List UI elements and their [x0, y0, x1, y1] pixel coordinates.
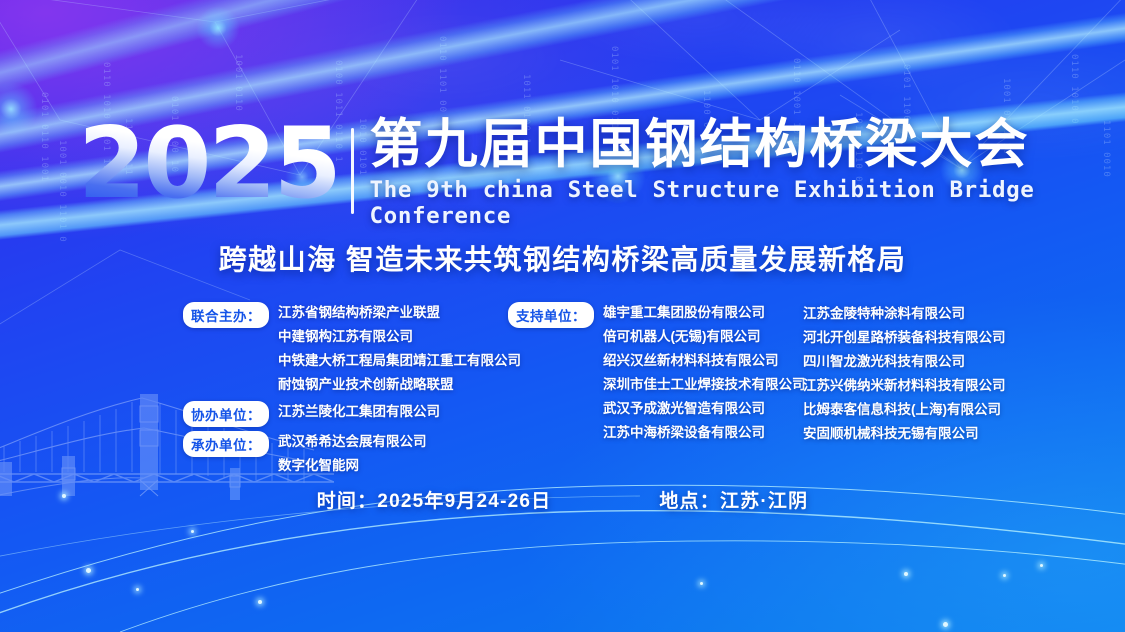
sponsor-item: 江苏兰陵化工集团有限公司	[278, 400, 440, 424]
slogan: 跨越山海 智造未来共筑钢结构桥梁高质量发展新格局	[0, 238, 1125, 278]
sponsor-group: 支持单位： 雄宇重工集团股份有限公司 倍可机器人(无锡)有限公司 绍兴汉丝新材料…	[508, 301, 803, 445]
event-details: 时间：2025年9月24-26日 地点：江苏·江阴	[0, 486, 1125, 513]
sponsor-item: 雄宇重工集团股份有限公司	[603, 301, 806, 325]
sparkle	[904, 572, 908, 576]
sparkle	[258, 600, 262, 604]
headline: 2025 第九届中国钢结构桥梁大会 The 9th china Steel St…	[78, 118, 1125, 229]
sponsor-label-pill: 联合主办：	[183, 302, 269, 328]
sponsor-item: 安固顺机械科技无锡有限公司	[803, 422, 1038, 446]
sparkle	[86, 568, 91, 573]
sponsor-group: 联合主办： 江苏省钢结构桥梁产业联盟 中建钢构江苏有限公司 中铁建大桥工程局集团…	[183, 301, 508, 397]
sponsor-item: 数字化智能网	[278, 454, 427, 478]
sparkle	[700, 582, 703, 585]
sponsor-item: 江苏中海桥梁设备有限公司	[603, 421, 806, 445]
sponsor-block: 联合主办： 江苏省钢结构桥梁产业联盟 中建钢构江苏有限公司 中铁建大桥工程局集团…	[183, 301, 1063, 481]
year-2025: 2025	[78, 118, 339, 211]
event-date: 时间：2025年9月24-26日	[317, 486, 552, 513]
sponsor-label-pill: 承办单位：	[183, 431, 269, 457]
sponsor-item: 江苏兴佛纳米新材料科技有限公司	[803, 374, 1038, 398]
sponsor-group: 协办单位： 江苏兰陵化工集团有限公司	[183, 400, 508, 427]
sponsor-item: 河北开创星路桥装备科技有限公司	[803, 326, 1038, 350]
binary-column: 0110 1101 00	[436, 36, 447, 113]
sponsor-label-pill: 协办单位：	[183, 401, 269, 427]
glow-dot	[0, 82, 38, 136]
sponsor-item: 武汉予成激光智造有限公司	[603, 397, 806, 421]
event-venue: 地点：江苏·江阴	[659, 486, 808, 513]
title-english: The 9th china Steel Structure Exhibition…	[370, 177, 1125, 229]
sponsor-items: 江苏省钢结构桥梁产业联盟 中建钢构江苏有限公司 中铁建大桥工程局集团靖江重工有限…	[278, 301, 521, 397]
title-chinese: 第九届中国钢结构桥梁大会	[370, 118, 1125, 172]
sponsor-items: 武汉希希达会展有限公司 数字化智能网	[278, 430, 427, 478]
sponsor-item: 比姆泰客信息科技(上海)有限公司	[803, 398, 1038, 422]
binary-column: 0101 0110 1001	[38, 92, 49, 182]
sparkle	[1003, 574, 1006, 577]
sponsor-item: 绍兴汉丝新材料科技有限公司	[603, 349, 806, 373]
sponsor-group: 承办单位： 武汉希希达会展有限公司 数字化智能网	[183, 430, 508, 478]
sponsor-item: 深圳市佳士工业焊接技术有限公司	[603, 373, 806, 397]
sparkle	[1040, 564, 1043, 567]
sponsor-item: 中建钢构江苏有限公司	[278, 325, 521, 349]
binary-column: 1001 0010 1101 0	[56, 140, 67, 243]
sponsor-items: 江苏兰陵化工集团有限公司	[278, 400, 440, 424]
sponsor-column-3: 江苏金陵特种涂料有限公司 河北开创星路桥装备科技有限公司 四川智龙激光科技有限公…	[803, 301, 1038, 481]
sponsor-items: 雄宇重工集团股份有限公司 倍可机器人(无锡)有限公司 绍兴汉丝新材料科技有限公司…	[603, 301, 806, 445]
sponsor-item: 耐蚀钢产业技术创新战略联盟	[278, 373, 521, 397]
glow-dot	[196, 6, 240, 50]
binary-column: 1001 0110	[232, 54, 243, 112]
sponsor-item: 江苏省钢结构桥梁产业联盟	[278, 301, 521, 325]
sponsor-item: 中铁建大桥工程局集团靖江重工有限公司	[278, 349, 521, 373]
binary-column: 0110 1010 0	[1068, 54, 1079, 125]
sponsor-column-2: 支持单位： 雄宇重工集团股份有限公司 倍可机器人(无锡)有限公司 绍兴汉丝新材料…	[508, 301, 803, 481]
sponsor-label-pill: 支持单位：	[508, 302, 594, 328]
sponsor-item: 四川智龙激光科技有限公司	[803, 350, 1038, 374]
sparkle	[136, 588, 139, 591]
binary-column: 0101 1100	[900, 64, 911, 122]
conference-banner: 0101 0110 1001 1001 0010 1101 0 0110 101…	[0, 0, 1125, 632]
sparkle	[943, 622, 948, 627]
sponsor-item: 倍可机器人(无锡)有限公司	[603, 325, 806, 349]
sponsor-item: 武汉希希达会展有限公司	[278, 430, 427, 454]
title-divider	[351, 128, 354, 214]
sponsor-column-1: 联合主办： 江苏省钢结构桥梁产业联盟 中建钢构江苏有限公司 中铁建大桥工程局集团…	[183, 301, 508, 481]
sponsor-item: 江苏金陵特种涂料有限公司	[803, 302, 1038, 326]
sparkle	[191, 530, 194, 533]
